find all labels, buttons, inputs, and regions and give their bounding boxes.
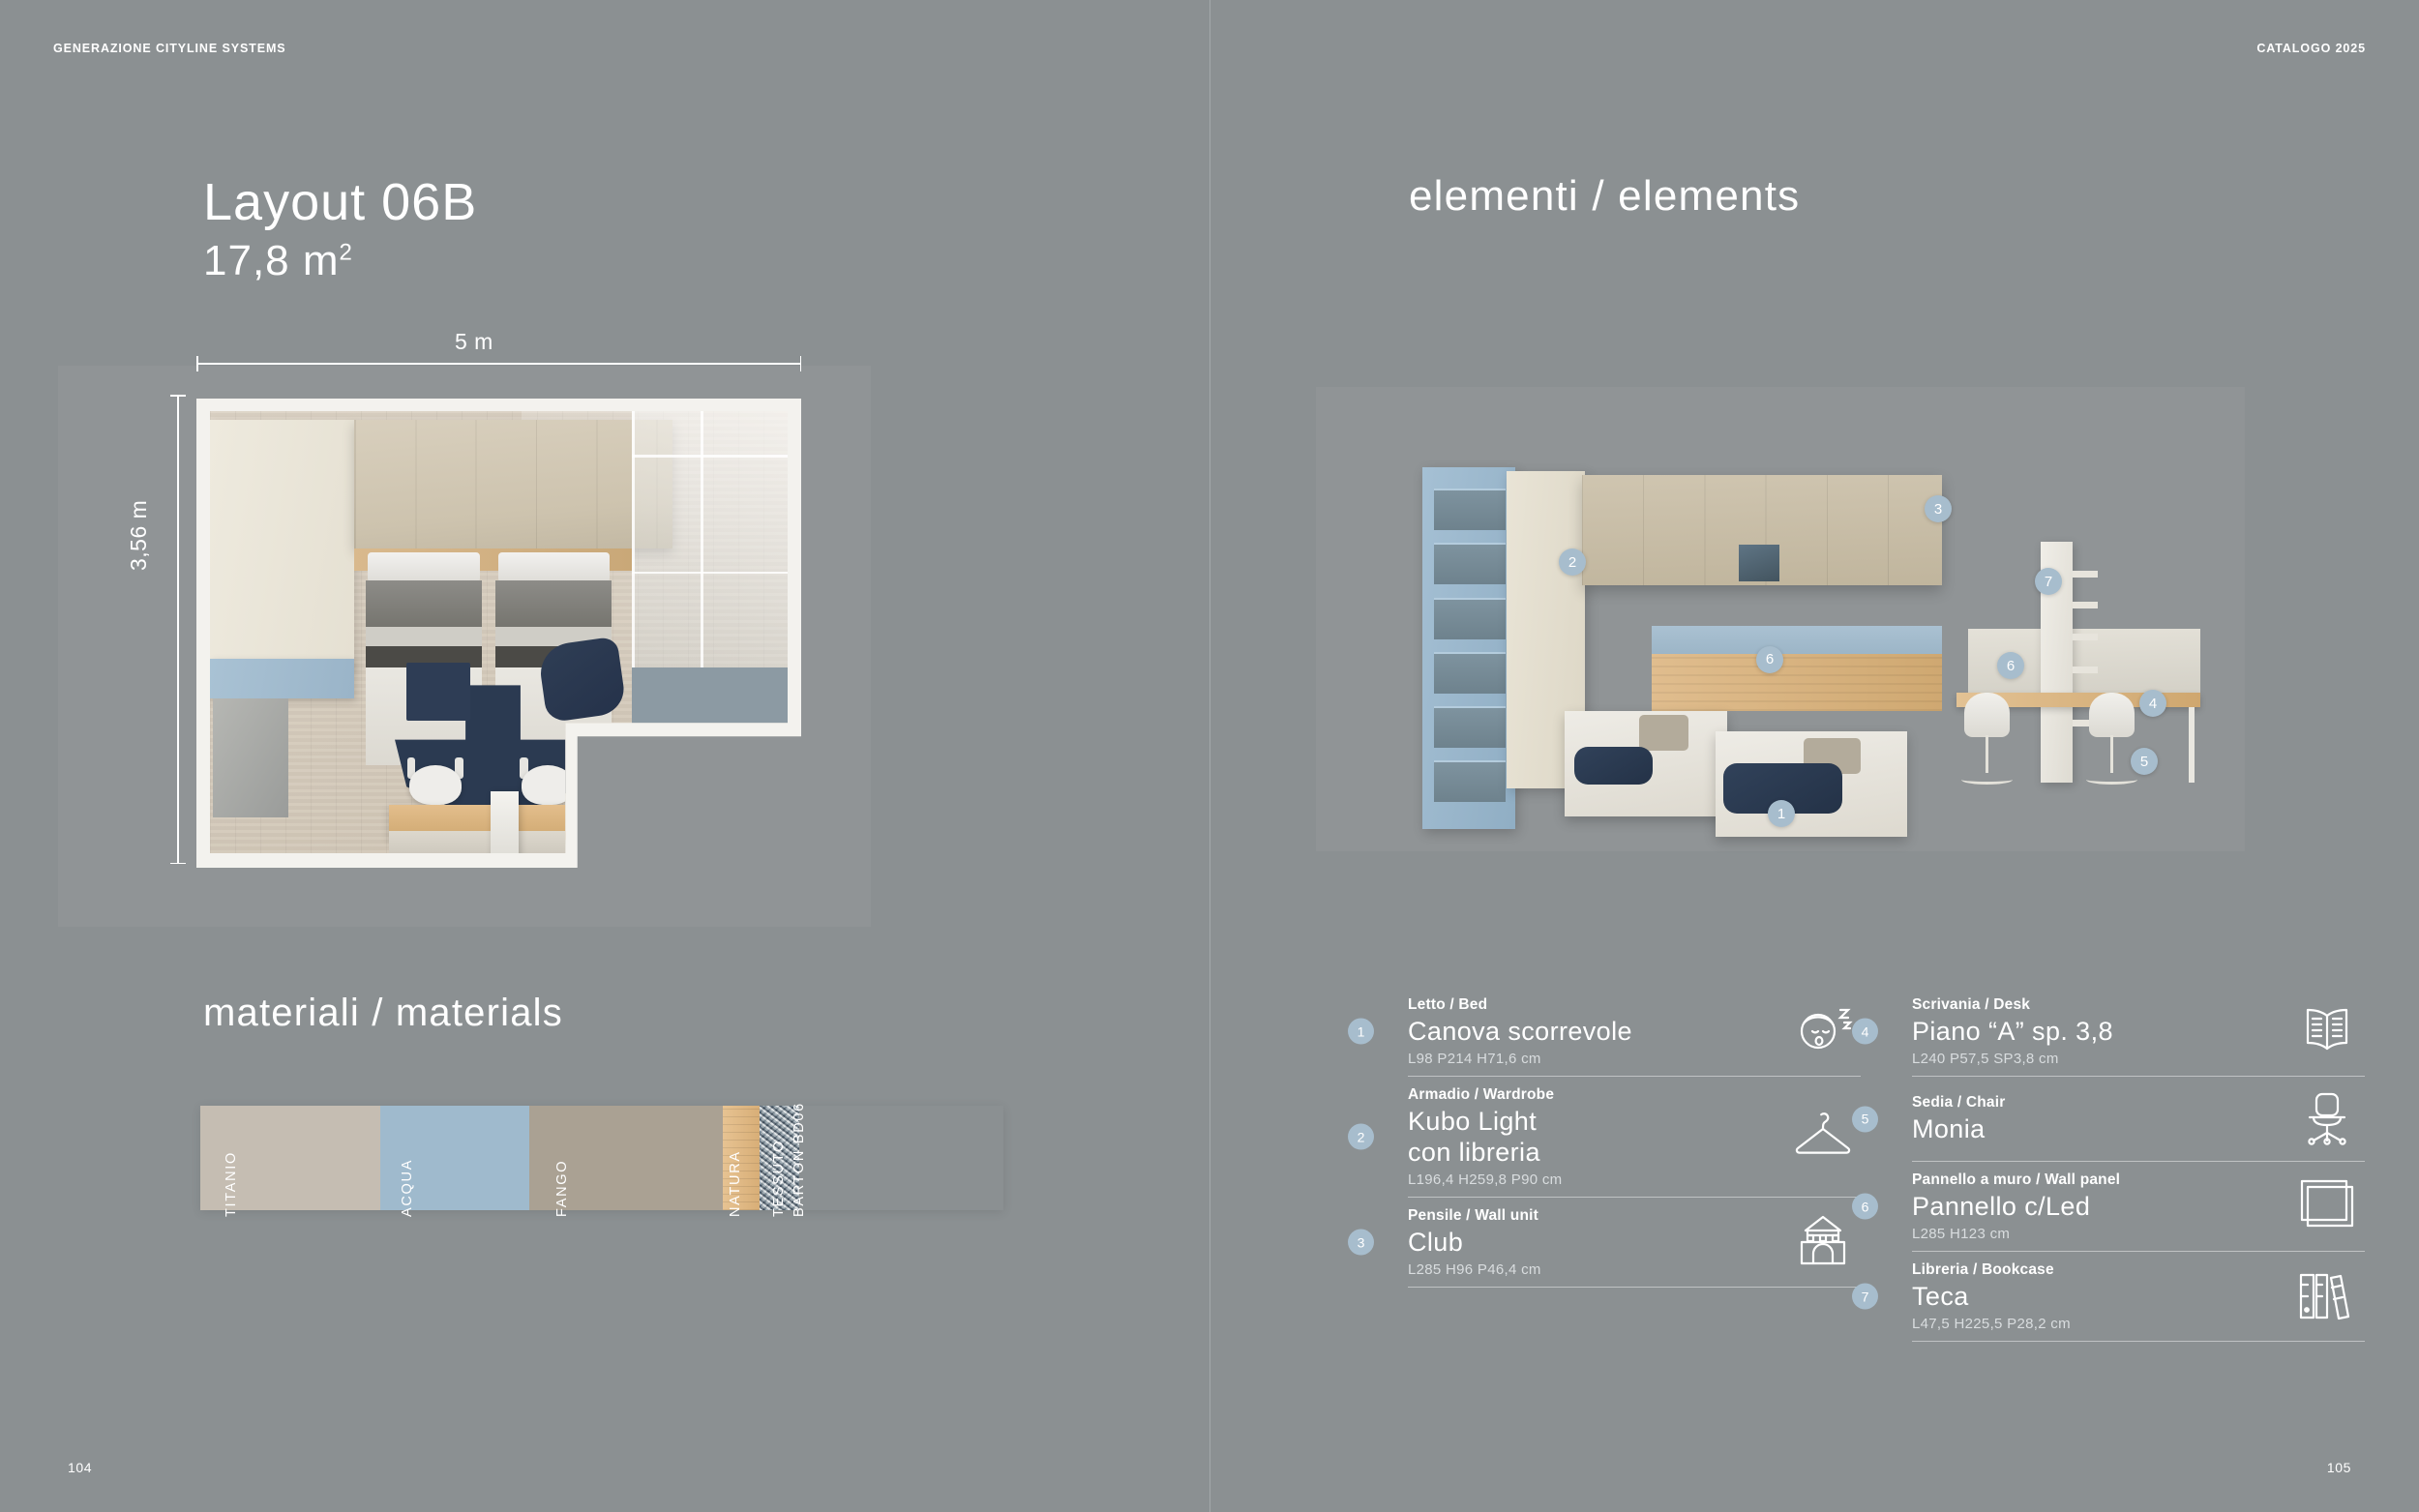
render-callout-6[interactable]: 6 xyxy=(1997,652,2024,679)
render-callout-2[interactable]: 2 xyxy=(1559,548,1586,576)
legend-category: Pannello a muro / Wall panel xyxy=(1912,1169,2289,1191)
plan-width-dimension xyxy=(196,363,801,365)
legend-number-badge: 3 xyxy=(1348,1230,1374,1256)
folio-left: 104 xyxy=(68,1460,92,1475)
layout-area-value: 17,8 m xyxy=(203,237,340,284)
legend-category: Armadio / Wardrobe xyxy=(1408,1083,1785,1106)
render-callout-4[interactable]: 4 xyxy=(2139,690,2166,717)
render-chair-right xyxy=(2081,693,2142,788)
legend-category: Libreria / Bookcase xyxy=(1912,1259,2289,1281)
legend-product-name: Canova scorrevole xyxy=(1408,1017,1785,1048)
catalog-spread: GENERAZIONE CITYLINE SYSTEMS Layout 06B … xyxy=(0,0,2419,1512)
render-chair-left xyxy=(1956,693,2017,788)
castle-tower-icon xyxy=(1785,1207,1861,1275)
material-swatch-label: ACQUA xyxy=(400,1159,415,1217)
legend-row[interactable]: 1Letto / BedCanova scorrevoleL98 P214 H7… xyxy=(1408,987,1861,1077)
legend-product-name: Teca xyxy=(1912,1282,2289,1313)
elements-title: elementi / elements xyxy=(1409,172,1800,221)
layout-area: 17,8 m2 xyxy=(203,237,353,285)
page-title: Layout 06B xyxy=(203,172,477,232)
legend-number-badge: 5 xyxy=(1852,1106,1878,1132)
legend-text: Scrivania / DeskPiano “A” sp. 3,8L240 P5… xyxy=(1912,993,2289,1067)
render-callout-6[interactable]: 6 xyxy=(1756,646,1783,673)
legend-dimensions: L98 P214 H71,6 cm xyxy=(1408,1051,1785,1067)
legend-number-badge: 2 xyxy=(1348,1124,1374,1150)
layout-area-unit: 2 xyxy=(340,239,353,265)
legend-column-left: 1Letto / BedCanova scorrevoleL98 P214 H7… xyxy=(1408,987,1861,1342)
legend-row[interactable]: 6Pannello a muro / Wall panelPannello c/… xyxy=(1912,1162,2365,1252)
plan-wardrobe xyxy=(210,420,354,667)
open-book-icon xyxy=(2289,996,2365,1064)
render-bed-right xyxy=(1716,731,1907,837)
render-bookcase-blue xyxy=(1422,467,1515,829)
sleeping-face-icon xyxy=(1785,996,1861,1064)
render-wall-niche xyxy=(1739,545,1779,581)
books-icon xyxy=(2289,1261,2365,1329)
legend-number-badge: 4 xyxy=(1852,1019,1878,1045)
legend-number-badge: 6 xyxy=(1852,1194,1878,1220)
desk-render: 7645 xyxy=(1945,530,2235,820)
material-swatch-label: TITANIO xyxy=(224,1151,239,1217)
plan-desk-divider xyxy=(491,791,520,853)
plan-width-label: 5 m xyxy=(455,329,493,355)
legend-row[interactable]: 5Sedia / ChairMonia xyxy=(1912,1077,2365,1162)
room-interior xyxy=(210,411,788,853)
material-swatch-label: NATURA xyxy=(728,1150,743,1217)
plan-height-dimension xyxy=(177,395,179,864)
legend-text: Pannello a muro / Wall panelPannello c/L… xyxy=(1912,1169,2289,1242)
materials-title: materiali / materials xyxy=(203,992,563,1035)
material-swatch-strip xyxy=(200,1106,1003,1210)
legend-category: Scrivania / Desk xyxy=(1912,993,2289,1016)
legend-text: Libreria / BookcaseTecaL47,5 H225,5 P28,… xyxy=(1912,1259,2289,1332)
legend-row[interactable]: 3Pensile / Wall unitClubL285 H96 P46,4 c… xyxy=(1408,1198,1861,1288)
legend-dimensions: L196,4 H259,8 P90 cm xyxy=(1408,1171,1785,1188)
legend-text: Armadio / WardrobeKubo Lightcon libreria… xyxy=(1408,1083,1785,1188)
legend-text: Sedia / ChairMonia xyxy=(1912,1091,2289,1145)
legend-product-name: Monia xyxy=(1912,1114,2289,1145)
legend-dimensions: L285 H123 cm xyxy=(1912,1226,2289,1242)
composition-render: 1236 xyxy=(1408,447,1988,853)
legend-category: Sedia / Chair xyxy=(1912,1091,2289,1113)
plan-rug-accent xyxy=(406,663,470,720)
legend-number-badge: 1 xyxy=(1348,1019,1374,1045)
plan-wardrobe-blue xyxy=(210,659,354,698)
legend-category: Pensile / Wall unit xyxy=(1408,1204,1785,1227)
render-callout-7[interactable]: 7 xyxy=(2035,568,2062,595)
legend-number-badge: 7 xyxy=(1852,1284,1878,1310)
legend-dimensions: L285 H96 P46,4 cm xyxy=(1408,1261,1785,1278)
left-page: GENERAZIONE CITYLINE SYSTEMS Layout 06B … xyxy=(0,0,1209,1512)
office-chair-icon xyxy=(2289,1084,2365,1152)
plan-wall-unit xyxy=(354,420,672,548)
legend-row[interactable]: 4Scrivania / DeskPiano “A” sp. 3,8L240 P… xyxy=(1912,987,2365,1077)
material-swatch-labels: TITANIOACQUAFANGONATURATESSUTOBARTON BD0… xyxy=(200,1217,1003,1391)
material-swatch-label: FANGO xyxy=(554,1160,570,1217)
elements-legend: 1Letto / BedCanova scorrevoleL98 P214 H7… xyxy=(1408,987,2366,1342)
legend-product-name: Kubo Lightcon libreria xyxy=(1408,1107,1785,1169)
page-gutter xyxy=(1209,0,1210,1512)
plan-wardrobe-side xyxy=(213,698,288,817)
render-panel-wood xyxy=(1652,654,1942,711)
folio-right: 105 xyxy=(2327,1460,2351,1475)
legend-row[interactable]: 7Libreria / BookcaseTecaL47,5 H225,5 P28… xyxy=(1912,1252,2365,1342)
plan-height-label: 3,56 m xyxy=(126,500,152,571)
render-callout-3[interactable]: 3 xyxy=(1925,495,1952,522)
legend-product-name: Piano “A” sp. 3,8 xyxy=(1912,1017,2289,1048)
floor-plan-render xyxy=(196,399,801,868)
running-head-left: GENERAZIONE CITYLINE SYSTEMS xyxy=(53,42,286,55)
legend-category: Letto / Bed xyxy=(1408,993,1785,1016)
render-bed-left xyxy=(1565,711,1727,816)
render-desk-leg xyxy=(2189,707,2195,783)
legend-dimensions: L47,5 H225,5 P28,2 cm xyxy=(1912,1316,2289,1332)
legend-product-name: Pannello c/Led xyxy=(1912,1192,2289,1223)
clothes-hanger-icon xyxy=(1785,1102,1861,1170)
legend-row[interactable]: 2Armadio / WardrobeKubo Lightcon libreri… xyxy=(1408,1077,1861,1198)
plan-balcony xyxy=(632,667,788,725)
legend-product-name: Club xyxy=(1408,1228,1785,1259)
legend-dimensions: L240 P57,5 SP3,8 cm xyxy=(1912,1051,2289,1067)
render-callout-5[interactable]: 5 xyxy=(2131,748,2158,775)
legend-text: Pensile / Wall unitClubL285 H96 P46,4 cm xyxy=(1408,1204,1785,1278)
legend-column-right: 4Scrivania / DeskPiano “A” sp. 3,8L240 P… xyxy=(1912,987,2365,1342)
material-swatch-label: TESSUTOBARTON BD06 xyxy=(769,1102,810,1217)
plan-chair-left xyxy=(409,765,462,805)
legend-text: Letto / BedCanova scorrevoleL98 P214 H71… xyxy=(1408,993,1785,1067)
running-head-right: CATALOGO 2025 xyxy=(2256,42,2366,55)
framed-panel-icon xyxy=(2289,1171,2365,1239)
